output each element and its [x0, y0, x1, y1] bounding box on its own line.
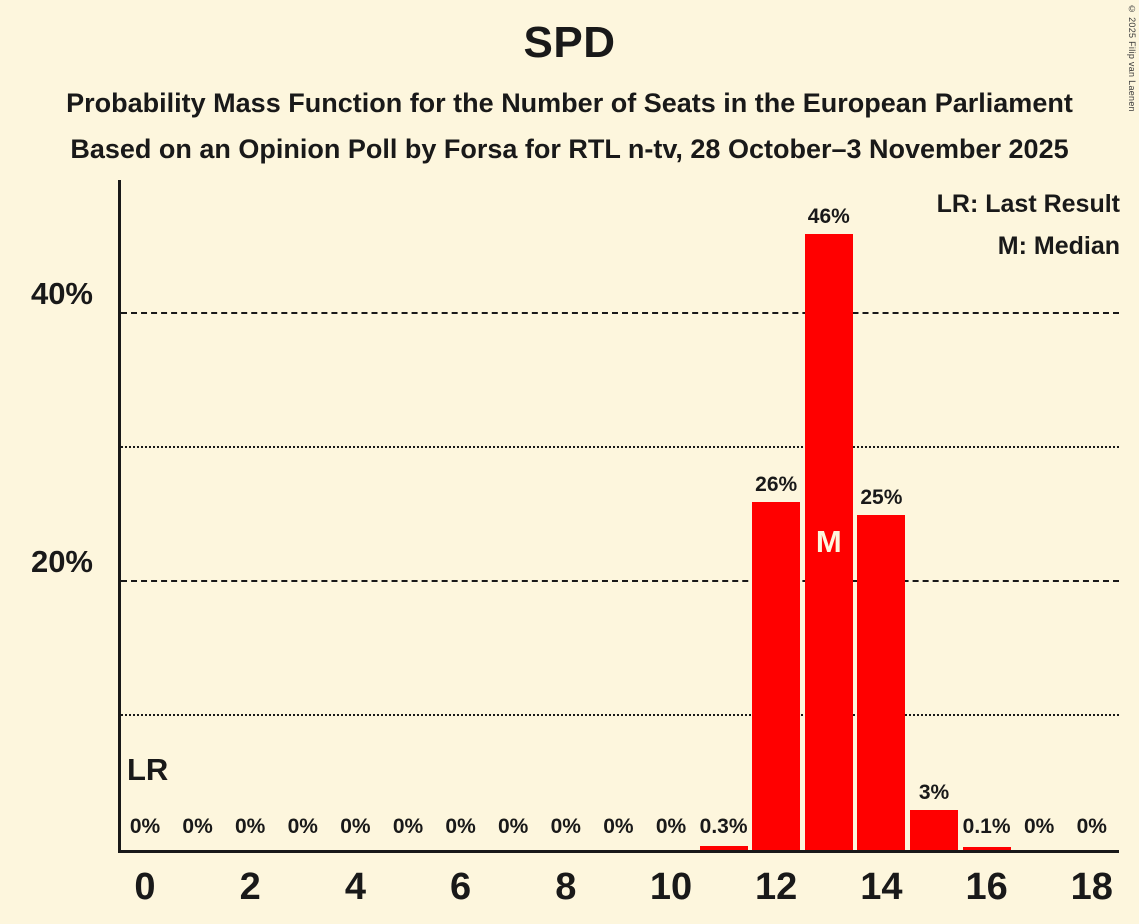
y-axis-line — [118, 180, 121, 853]
y-tick-label-40: 40% — [31, 276, 93, 312]
bar-value-label-4: 0% — [340, 815, 370, 839]
gridline-40 — [121, 312, 1119, 314]
x-tick-label-18: 18 — [1071, 866, 1113, 909]
last-result-marker: LR — [127, 752, 168, 788]
x-tick-label-8: 8 — [555, 866, 576, 909]
x-tick-label-14: 14 — [860, 866, 902, 909]
bar-seat-15 — [910, 810, 958, 850]
x-tick-label-2: 2 — [240, 866, 261, 909]
bar-value-label-6: 0% — [445, 815, 475, 839]
median-marker: M — [816, 524, 842, 560]
bar-value-label-15: 3% — [919, 781, 949, 805]
x-tick-label-16: 16 — [965, 866, 1007, 909]
x-tick-label-6: 6 — [450, 866, 471, 909]
bar-value-label-11: 0.3% — [700, 815, 748, 839]
bar-value-label-12: 26% — [755, 473, 797, 497]
gridline-20 — [121, 580, 1119, 582]
gridline-10 — [121, 714, 1119, 716]
bar-value-label-17: 0% — [1024, 815, 1054, 839]
bar-value-label-18: 0% — [1077, 815, 1107, 839]
bar-value-label-2: 0% — [235, 815, 265, 839]
bar-value-label-13: 46% — [808, 205, 850, 229]
pmf-chart: SPD Probability Mass Function for the Nu… — [0, 0, 1139, 924]
chart-subtitle-secondary: Based on an Opinion Poll by Forsa for RT… — [0, 134, 1139, 165]
bar-value-label-16: 0.1% — [963, 815, 1011, 839]
bar-seat-14 — [857, 515, 905, 850]
x-tick-label-12: 12 — [755, 866, 797, 909]
x-tick-label-4: 4 — [345, 866, 366, 909]
bar-value-label-7: 0% — [498, 815, 528, 839]
x-axis-tick-labels: 024681012141618 — [118, 866, 1119, 924]
bar-value-label-0: 0% — [130, 815, 160, 839]
bar-value-label-8: 0% — [551, 815, 581, 839]
chart-title: SPD — [0, 18, 1139, 68]
bar-value-label-3: 0% — [288, 815, 318, 839]
gridline-30 — [121, 446, 1119, 448]
chart-subtitle-primary: Probability Mass Function for the Number… — [0, 88, 1139, 119]
copyright-notice: © 2025 Filip van Laenen — [1127, 4, 1137, 112]
plot-area: 40%20% 0%0%0%0%0%0%0%0%0%0%0%0.3%26%46%2… — [118, 180, 1119, 853]
bar-value-label-10: 0% — [656, 815, 686, 839]
bar-value-label-5: 0% — [393, 815, 423, 839]
bar-value-label-14: 25% — [860, 486, 902, 510]
bar-value-label-1: 0% — [182, 815, 212, 839]
bar-value-label-9: 0% — [603, 815, 633, 839]
x-tick-label-10: 10 — [650, 866, 692, 909]
x-axis-line — [118, 850, 1119, 853]
x-tick-label-0: 0 — [134, 866, 155, 909]
y-tick-label-20: 20% — [31, 544, 93, 580]
bar-seat-12 — [752, 502, 800, 850]
bar-seat-11 — [700, 846, 748, 850]
bar-seat-16 — [963, 847, 1011, 850]
